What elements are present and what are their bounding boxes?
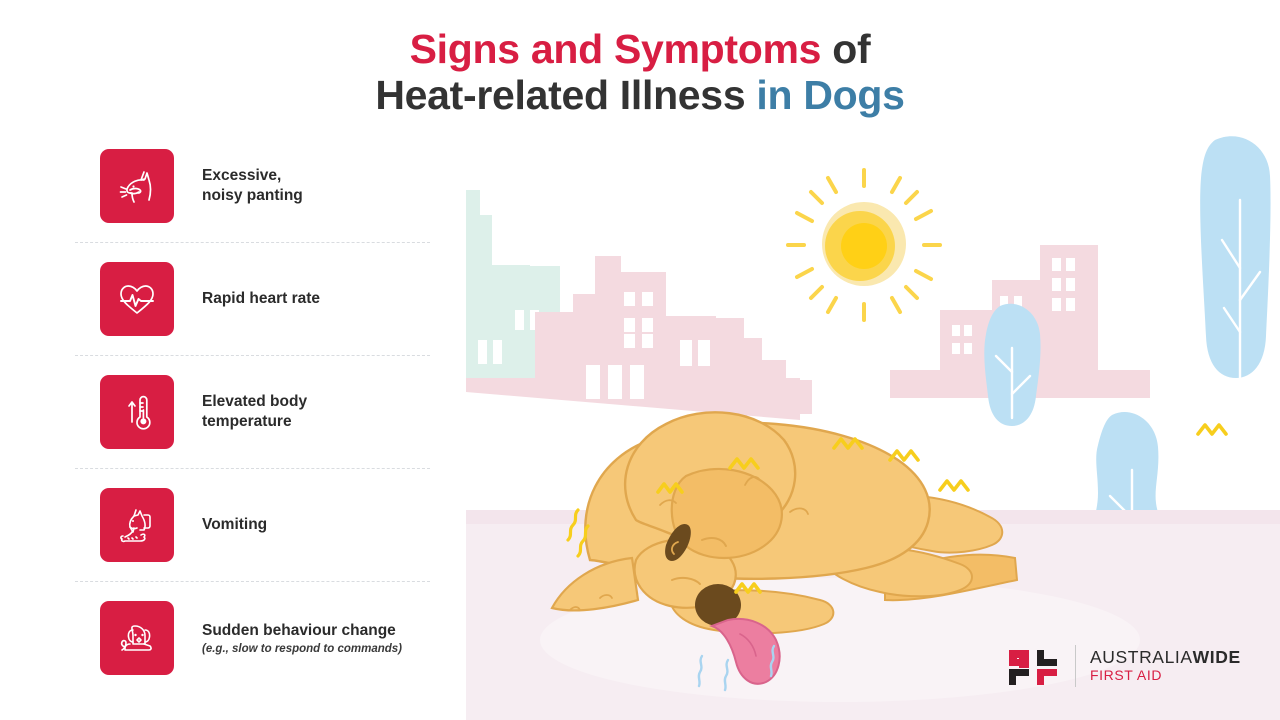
thermometer-up-icon xyxy=(100,375,174,449)
symptom-text: Sudden behaviour change (e.g., slow to r… xyxy=(202,621,402,655)
australia-wide-first-aid-logo[interactable]: AUSTRALIAWIDE FIRST AID xyxy=(1007,640,1241,692)
overheated-dog-in-city-scene xyxy=(440,0,1280,720)
lying-dog-icon xyxy=(100,601,174,675)
heart-pulse-icon xyxy=(100,262,174,336)
logo-wide: WIDE xyxy=(1193,647,1241,667)
logo-wordmark: AUSTRALIAWIDE FIRST AID xyxy=(1090,648,1241,684)
scene-svg xyxy=(440,0,1280,720)
symptom-text: Rapid heart rate xyxy=(202,289,320,309)
symptom-label: Rapid heart rate xyxy=(202,289,320,309)
symptom-text: Elevated body temperature xyxy=(202,392,307,432)
sun-icon xyxy=(788,170,940,320)
panting-dog-icon xyxy=(100,149,174,223)
infographic-canvas: Signs and Symptoms of Heat-related Illne… xyxy=(0,0,1280,720)
vomiting-dog-icon xyxy=(100,488,174,562)
symptom-list: Excessive, noisy panting Rapid heart rat… xyxy=(75,130,430,694)
australia-wide-cross-logo xyxy=(1007,640,1059,692)
symptom-label: Sudden behaviour change xyxy=(202,621,402,641)
symptom-row-heart-rate[interactable]: Rapid heart rate xyxy=(75,242,430,355)
symptom-row-panting[interactable]: Excessive, noisy panting xyxy=(75,130,430,242)
symptom-text: Vomiting xyxy=(202,515,267,535)
symptom-row-temperature[interactable]: Elevated body temperature xyxy=(75,355,430,468)
symptom-label: Vomiting xyxy=(202,515,267,535)
logo-line-2: FIRST AID xyxy=(1090,668,1241,684)
logo-divider xyxy=(1075,645,1076,687)
symptom-row-vomiting[interactable]: Vomiting xyxy=(75,468,430,581)
symptom-row-behaviour-change[interactable]: Sudden behaviour change (e.g., slow to r… xyxy=(75,581,430,694)
symptom-text: Excessive, noisy panting xyxy=(202,166,303,206)
symptom-label: Elevated body temperature xyxy=(202,392,307,432)
symptom-label: Excessive, noisy panting xyxy=(202,166,303,206)
symptom-sublabel: (e.g., slow to respond to commands) xyxy=(202,643,402,655)
logo-line-1: AUSTRALIAWIDE xyxy=(1090,648,1241,668)
logo-australia: AUSTRALIA xyxy=(1090,647,1193,667)
